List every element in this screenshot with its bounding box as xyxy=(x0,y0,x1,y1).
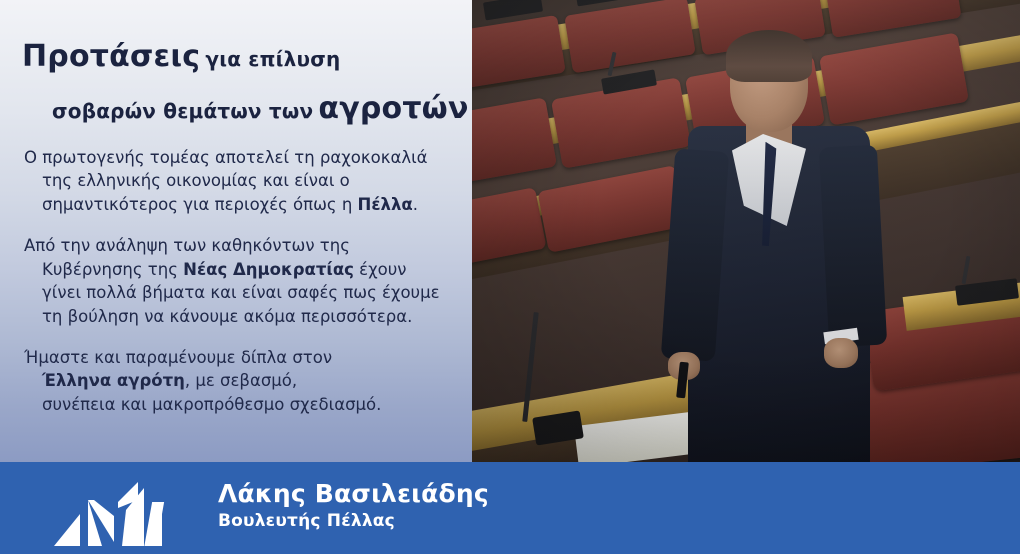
paragraph-2-line-2-post: έχουν xyxy=(354,260,407,279)
representative-role: Βουλευτής Πέλλας xyxy=(218,511,489,532)
highlight-nea-dimokratia: Νέας Δημοκρατίας xyxy=(183,260,354,279)
paragraph-3-line-1: Ήμαστε και παραμένουμε δίπλα στον xyxy=(24,346,456,369)
body-paragraphs: Ο πρωτογενής τομέας αποτελεί τη ραχοκοκα… xyxy=(0,146,472,434)
highlight-ellina-agroti: Έλληνα αγρότη xyxy=(42,371,185,390)
headline-phrase-sovaron-thematon: σοβαρών θεμάτων των xyxy=(52,99,313,123)
paragraph-2: Από την ανάληψη των καθηκόντων της Κυβέρ… xyxy=(0,234,472,328)
representative-name: Λάκης Βασιλειάδης xyxy=(218,480,489,508)
parliament-photo xyxy=(472,0,1020,462)
paragraph-3: Ήμαστε και παραμένουμε δίπλα στον Έλληνα… xyxy=(0,346,472,416)
headline-word-protaseis: Προτάσεις xyxy=(22,39,200,74)
paragraph-2-line-3: γίνει πολλά βήματα και είναι σαφές πως έ… xyxy=(24,281,456,304)
paragraph-2-line-2-pre: Κυβέρνησης της xyxy=(42,260,183,279)
highlight-pella: Πέλλα xyxy=(358,195,413,214)
paragraph-3-line-2-post: , με σεβασμό, xyxy=(185,371,297,390)
paragraph-1-line-3: σημαντικότερος για περιοχές όπως η Πέλλα… xyxy=(24,193,456,216)
nea-dimokratia-logo xyxy=(52,480,170,548)
headline-line-1: Προτάσεις για επίλυση xyxy=(0,42,472,72)
headline-word-agroton: αγροτών xyxy=(318,91,468,126)
headline-block: Προτάσεις για επίλυση σοβαρών θεμάτων τω… xyxy=(0,42,472,124)
photo-vignette xyxy=(472,0,1020,462)
paragraph-3-line-3: συνέπεια και μακροπρόθεσμο σχεδιασμό. xyxy=(24,393,456,416)
paragraph-1-line-1: Ο πρωτογενής τομέας αποτελεί τη ραχοκοκα… xyxy=(24,146,456,169)
paragraph-1-line-3-pre: σημαντικότερος για περιοχές όπως η xyxy=(42,195,358,214)
paragraph-2-line-2: Κυβέρνησης της Νέας Δημοκρατίας έχουν xyxy=(24,258,456,281)
paragraph-3-line-2: Έλληνα αγρότη, με σεβασμό, xyxy=(24,369,456,392)
text-panel: Προτάσεις για επίλυση σοβαρών θεμάτων τω… xyxy=(0,0,472,462)
paragraph-1-line-2: της ελληνικής οικονομίας και είναι ο xyxy=(24,169,456,192)
headline-line-2: σοβαρών θεμάτων των αγροτών xyxy=(0,94,472,124)
headline-phrase-gia-epilysi: για επίλυση xyxy=(205,47,340,71)
paragraph-1: Ο πρωτογενής τομέας αποτελεί τη ραχοκοκα… xyxy=(0,146,472,216)
paragraph-2-line-1: Από την ανάληψη των καθηκόντων της xyxy=(24,234,456,257)
representative-identity: Λάκης Βασιλειάδης Βουλευτής Πέλλας xyxy=(218,480,489,532)
paragraph-1-line-3-post: . xyxy=(413,195,418,214)
campaign-poster: Προτάσεις για επίλυση σοβαρών θεμάτων τω… xyxy=(0,0,1020,554)
paragraph-2-line-4: τη βούληση να κάνουμε ακόμα περισσότερα. xyxy=(24,305,456,328)
